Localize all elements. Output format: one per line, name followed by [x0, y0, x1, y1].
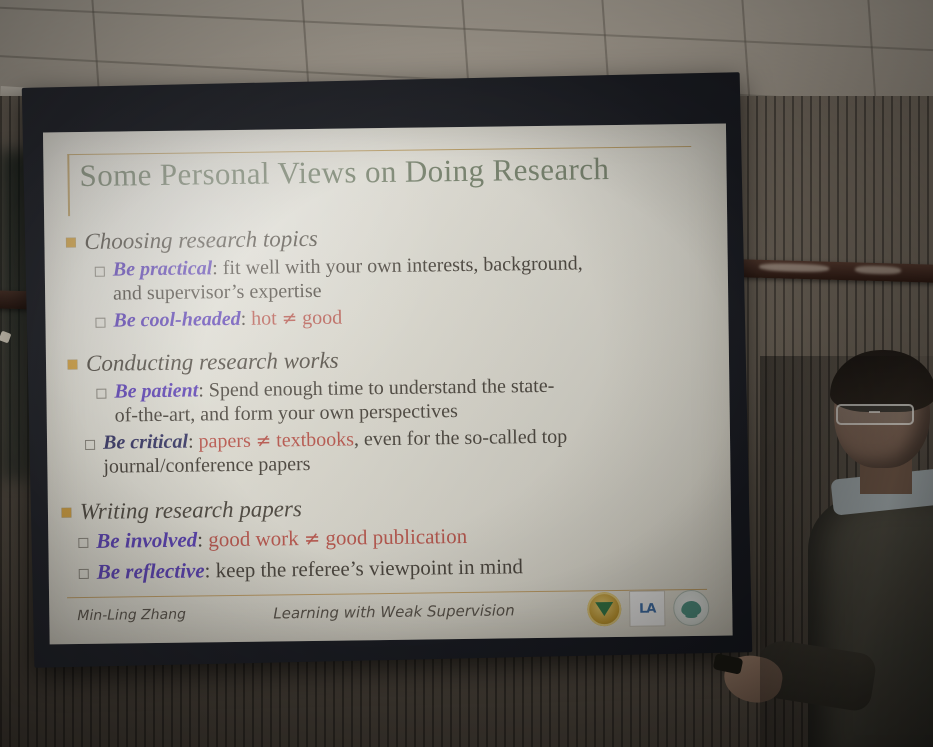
bullet-hollow-square-icon: [85, 440, 95, 450]
bullet-hollow-square-icon: [95, 318, 105, 328]
point-red-a: good work: [208, 526, 304, 551]
section-heading: Choosing research topics: [66, 220, 710, 256]
lecture-room-photo: Some Personal Views on Doing Research Ch…: [0, 0, 933, 747]
point-rest: , even for the so-called top: [354, 426, 568, 451]
tree-emblem-logo: [673, 590, 709, 626]
slide-footer: Min-Ling Zhang Learning with Weak Superv…: [67, 590, 715, 634]
point-lead: Be practical: [113, 257, 213, 280]
seu-seal-logo: [587, 592, 621, 626]
point-sep: :: [188, 431, 199, 453]
point-red-a: hot: [251, 307, 282, 329]
slide-body: Choosing research topics Be practical: f…: [70, 216, 715, 585]
sub-point: Be reflective: keep the referee’s viewpo…: [79, 551, 715, 585]
footer-author: Min-Ling Zhang: [67, 606, 249, 624]
presenter: [760, 356, 933, 747]
section-heading-text: Writing research papers: [80, 496, 302, 526]
point-lead: Be critical: [103, 431, 188, 454]
glasses-icon: [836, 404, 914, 425]
point-lead: Be reflective: [97, 558, 205, 583]
footer-logos: LA: [587, 590, 715, 628]
slide-title: Some Personal Views on Doing Research: [79, 150, 699, 194]
bullet-hollow-square-icon: [96, 389, 106, 399]
point-lead: Be patient: [114, 380, 198, 403]
section-heading: Writing research papers: [62, 490, 714, 526]
point-sep: :: [197, 527, 208, 551]
point-red-a: papers: [198, 430, 255, 453]
point-red-b: textbooks: [271, 429, 354, 452]
sub-point: Be critical: papers ≠ textbooks, even fo…: [85, 423, 714, 479]
bullet-square-icon: [68, 360, 77, 369]
not-equal-icon: ≠: [256, 431, 272, 452]
point-rest-2: journal/conference papers: [103, 453, 310, 478]
point-sep: :: [240, 308, 251, 330]
point-sep: :: [212, 257, 223, 279]
point-rest-2: and supervisor’s expertise: [113, 280, 322, 305]
lamda-logo: LA: [629, 590, 665, 626]
sub-point: Be practical: fit well with your own int…: [95, 250, 712, 306]
presenter-hair: [830, 350, 933, 412]
point-rest: Spend enough time to understand the stat…: [209, 375, 555, 402]
presentation-slide: Some Personal Views on Doing Research Ch…: [43, 124, 733, 645]
bullet-hollow-square-icon: [95, 267, 105, 277]
not-equal-icon: ≠: [282, 308, 298, 329]
footer-talk-title: Learning with Weak Supervision: [249, 600, 587, 622]
not-equal-icon: ≠: [304, 526, 320, 549]
section-heading-text: Choosing research topics: [84, 225, 318, 255]
point-rest: fit well with your own interests, backgr…: [223, 253, 583, 280]
point-rest: keep the referee’s viewpoint in mind: [216, 554, 524, 582]
section-heading: Conducting research works: [68, 342, 712, 378]
sub-point: Be involved: good work ≠ good publicatio…: [78, 520, 714, 554]
section-heading-text: Conducting research works: [86, 347, 339, 377]
bullet-square-icon: [62, 509, 71, 518]
point-lead: Be involved: [96, 527, 197, 552]
point-lead: Be cool-headed: [113, 308, 240, 332]
sub-point: Be patient: Spend enough time to underst…: [96, 372, 713, 428]
bullet-square-icon: [66, 238, 75, 247]
point-sep: :: [204, 558, 215, 582]
bullet-hollow-square-icon: [78, 537, 88, 547]
point-red-b: good publication: [320, 523, 467, 549]
bullet-hollow-square-icon: [79, 569, 89, 579]
point-red-b: good: [297, 307, 342, 330]
projection-screen: Some Personal Views on Doing Research Ch…: [22, 72, 752, 668]
title-left-bar: [67, 154, 70, 216]
presenter-torso: [808, 496, 933, 747]
point-rest-2: of-the-art, and form your own perspectiv…: [115, 400, 458, 426]
